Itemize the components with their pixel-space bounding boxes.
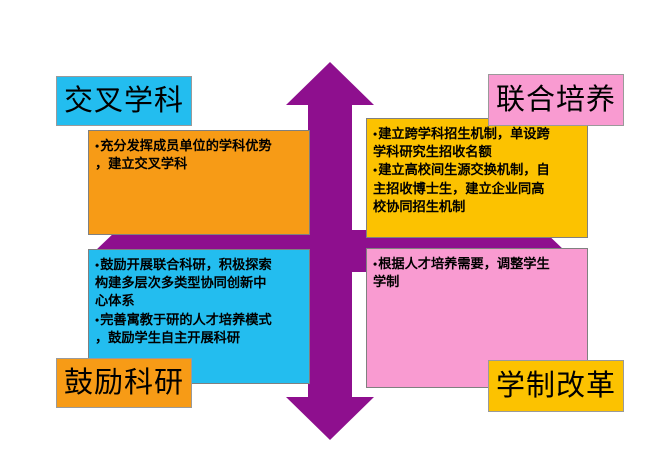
bullet-text: 根据人才培养需要，调整学生 [373,255,583,273]
quadrant-label-text: 交叉学科 [64,87,184,116]
bullet-text-cont: ，鼓励学生自主开展科研 [95,329,305,347]
quadrant-label-text: 学制改革 [496,372,616,401]
bullet-text: 建立跨学科招生机制，单设跨 [373,125,583,143]
bullet-text-cont: 主招收博士生，建立企业同高 [373,180,583,198]
quadrant-label-joint-training[interactable]: 联合培养 [488,74,624,126]
content-box-interdisciplinary: 充分发挥成员单位的学科优势 ，建立交叉学科 [88,130,310,235]
quadrant-label-system-reform[interactable]: 学制改革 [488,360,624,412]
bullet-text-cont: 学制 [373,273,583,291]
quadrant-label-research[interactable]: 鼓励科研 [56,358,192,408]
diagram-canvas: 充分发挥成员单位的学科优势 ，建立交叉学科 交叉学科 建立跨学科招生机制，单设跨… [0,0,660,465]
bullet-text: 建立高校间生源交换机制，自 [373,161,583,179]
bullet-text: 充分发挥成员单位的学科优势 [95,137,305,155]
quadrant-label-text: 联合培养 [496,86,616,115]
quadrant-label-interdisciplinary[interactable]: 交叉学科 [56,76,192,126]
bullet-text-cont: 学科研究生招收名额 [373,143,583,161]
quadrant-label-text: 鼓励科研 [64,369,184,398]
bullet-text-cont: 心体系 [95,292,305,310]
content-box-joint-training: 建立跨学科招生机制，单设跨 学科研究生招收名额 建立高校间生源交换机制，自 主招… [366,118,588,238]
bullet-text: 鼓励开展联合科研，积极探索 [95,256,305,274]
bullet-text-cont: 校协同招生机制 [373,198,583,216]
bullet-text-cont: ，建立交叉学科 [95,155,305,173]
bullet-text: 完善寓教于研的人才培养模式 [95,311,305,329]
bullet-text-cont: 构建多层次多类型协同创新中 [95,274,305,292]
